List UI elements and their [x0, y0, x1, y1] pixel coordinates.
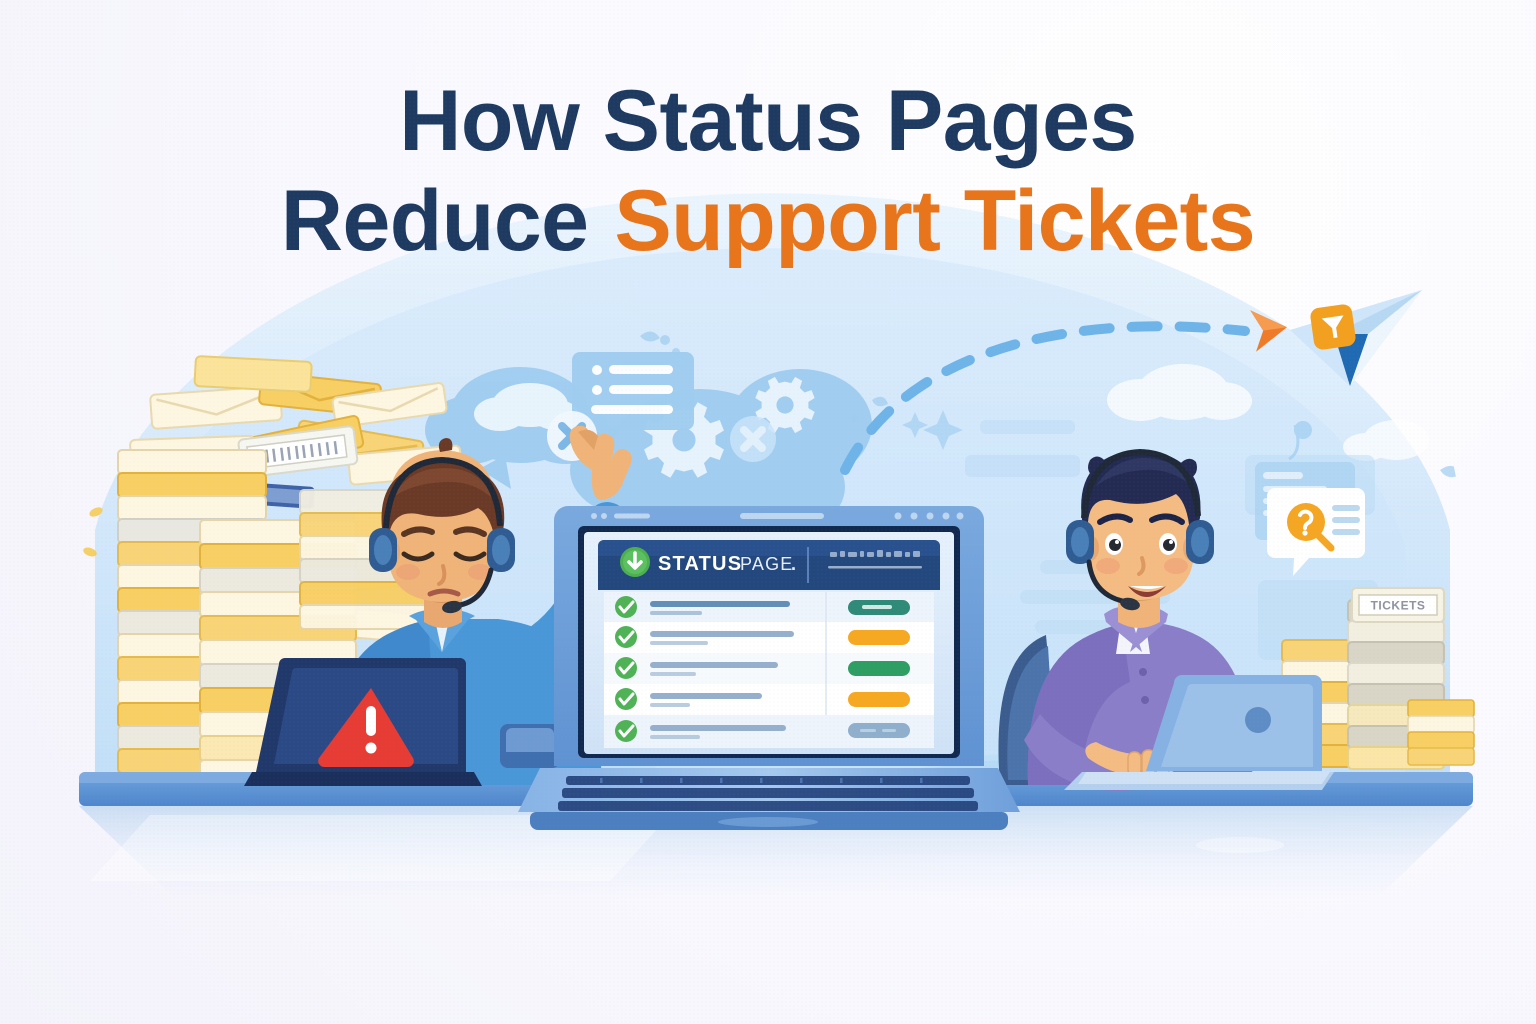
status-row	[604, 684, 934, 715]
status-row	[604, 592, 934, 622]
status-pill	[848, 692, 910, 707]
status-page-brand-bold: STATUS	[658, 553, 742, 575]
status-pill	[848, 723, 910, 738]
check-circle-icon	[615, 720, 637, 742]
status-pill	[848, 630, 910, 645]
status-row	[604, 715, 934, 748]
title-line-1: How Status Pages	[0, 78, 1536, 164]
title-line-2-highlight: Support Tickets	[614, 173, 1255, 269]
check-circle-icon	[615, 596, 637, 618]
status-page-brand-dot: .	[791, 554, 796, 574]
check-circle-icon	[615, 626, 637, 648]
status-rows	[604, 592, 934, 748]
status-row	[604, 622, 934, 653]
hero-illustration: How Status Pages ReduceSupport Tickets	[0, 0, 1536, 1024]
status-pill	[848, 661, 910, 676]
check-circle-icon	[615, 657, 637, 679]
status-page-header: STATUS PAGE .	[598, 540, 940, 590]
check-circle-icon	[615, 688, 637, 710]
status-row	[604, 653, 934, 684]
download-arrow-circle-icon	[620, 547, 650, 577]
title-line-2: ReduceSupport Tickets	[0, 178, 1536, 264]
status-page-brand-light: PAGE	[740, 554, 793, 574]
title-line-2-prefix: Reduce	[281, 173, 589, 269]
page-title: How Status Pages ReduceSupport Tickets	[0, 78, 1536, 264]
